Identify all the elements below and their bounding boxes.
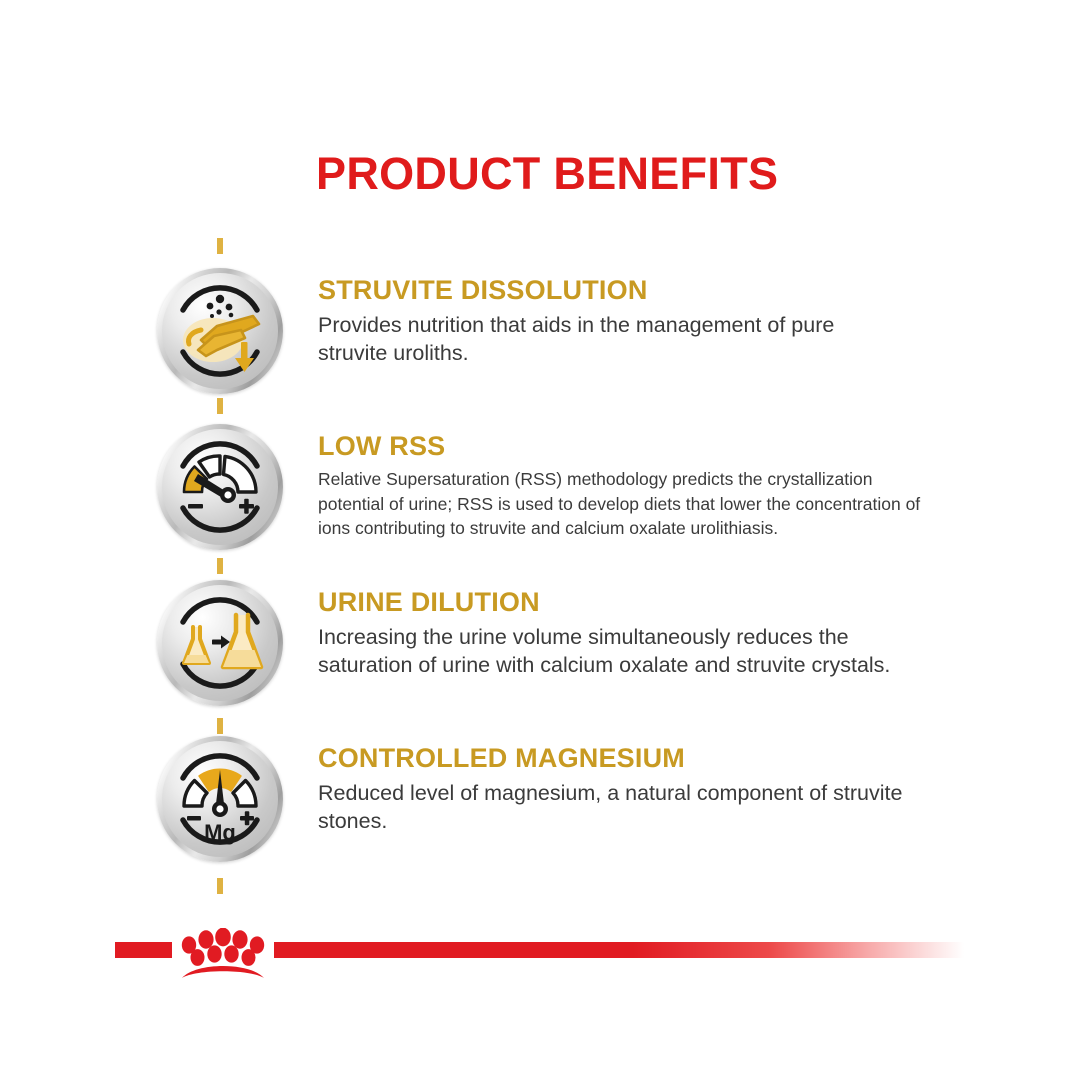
gauge-magnesium-icon: Mg xyxy=(157,736,283,862)
benefit-text-controlled-magnesium: CONTROLLED MAGNESIUM Reduced level of ma… xyxy=(318,744,918,836)
benefit-heading: URINE DILUTION xyxy=(318,588,938,618)
footer-brand-bar xyxy=(0,928,1080,988)
flasks-dilution-icon xyxy=(157,580,283,706)
royal-canin-crown-logo xyxy=(172,928,274,980)
benefit-body: Increasing the urine volume simultaneous… xyxy=(318,623,938,680)
benefit-text-low-rss: LOW RSS Relative Supersaturation (RSS) m… xyxy=(318,432,943,541)
benefit-text-urine-dilution: URINE DILUTION Increasing the urine volu… xyxy=(318,588,938,680)
benefit-body: Reduced level of magnesium, a natural co… xyxy=(318,779,918,836)
gauge-low-glyph xyxy=(157,424,283,550)
footer-bar-right xyxy=(274,942,964,958)
magnesium-symbol-label: Mg xyxy=(204,820,236,845)
flasks-dilution-glyph xyxy=(157,580,283,706)
struvite-crystal-dissolution-icon xyxy=(157,268,283,394)
benefit-heading: LOW RSS xyxy=(318,432,943,462)
benefit-heading: CONTROLLED MAGNESIUM xyxy=(318,744,918,774)
gauge-magnesium-glyph: Mg xyxy=(157,736,283,862)
footer-bar-left xyxy=(115,942,172,958)
product-benefits-page: PRODUCT BENEFITS xyxy=(0,0,1080,1080)
benefit-body: Provides nutrition that aids in the mana… xyxy=(318,311,878,368)
benefit-text-struvite-dissolution: STRUVITE DISSOLUTION Provides nutrition … xyxy=(318,276,878,368)
gauge-low-icon xyxy=(157,424,283,550)
page-title: PRODUCT BENEFITS xyxy=(316,148,778,200)
benefit-heading: STRUVITE DISSOLUTION xyxy=(318,276,878,306)
struvite-crystal-dissolution-glyph xyxy=(157,268,283,394)
benefit-body: Relative Supersaturation (RSS) methodolo… xyxy=(318,467,943,542)
